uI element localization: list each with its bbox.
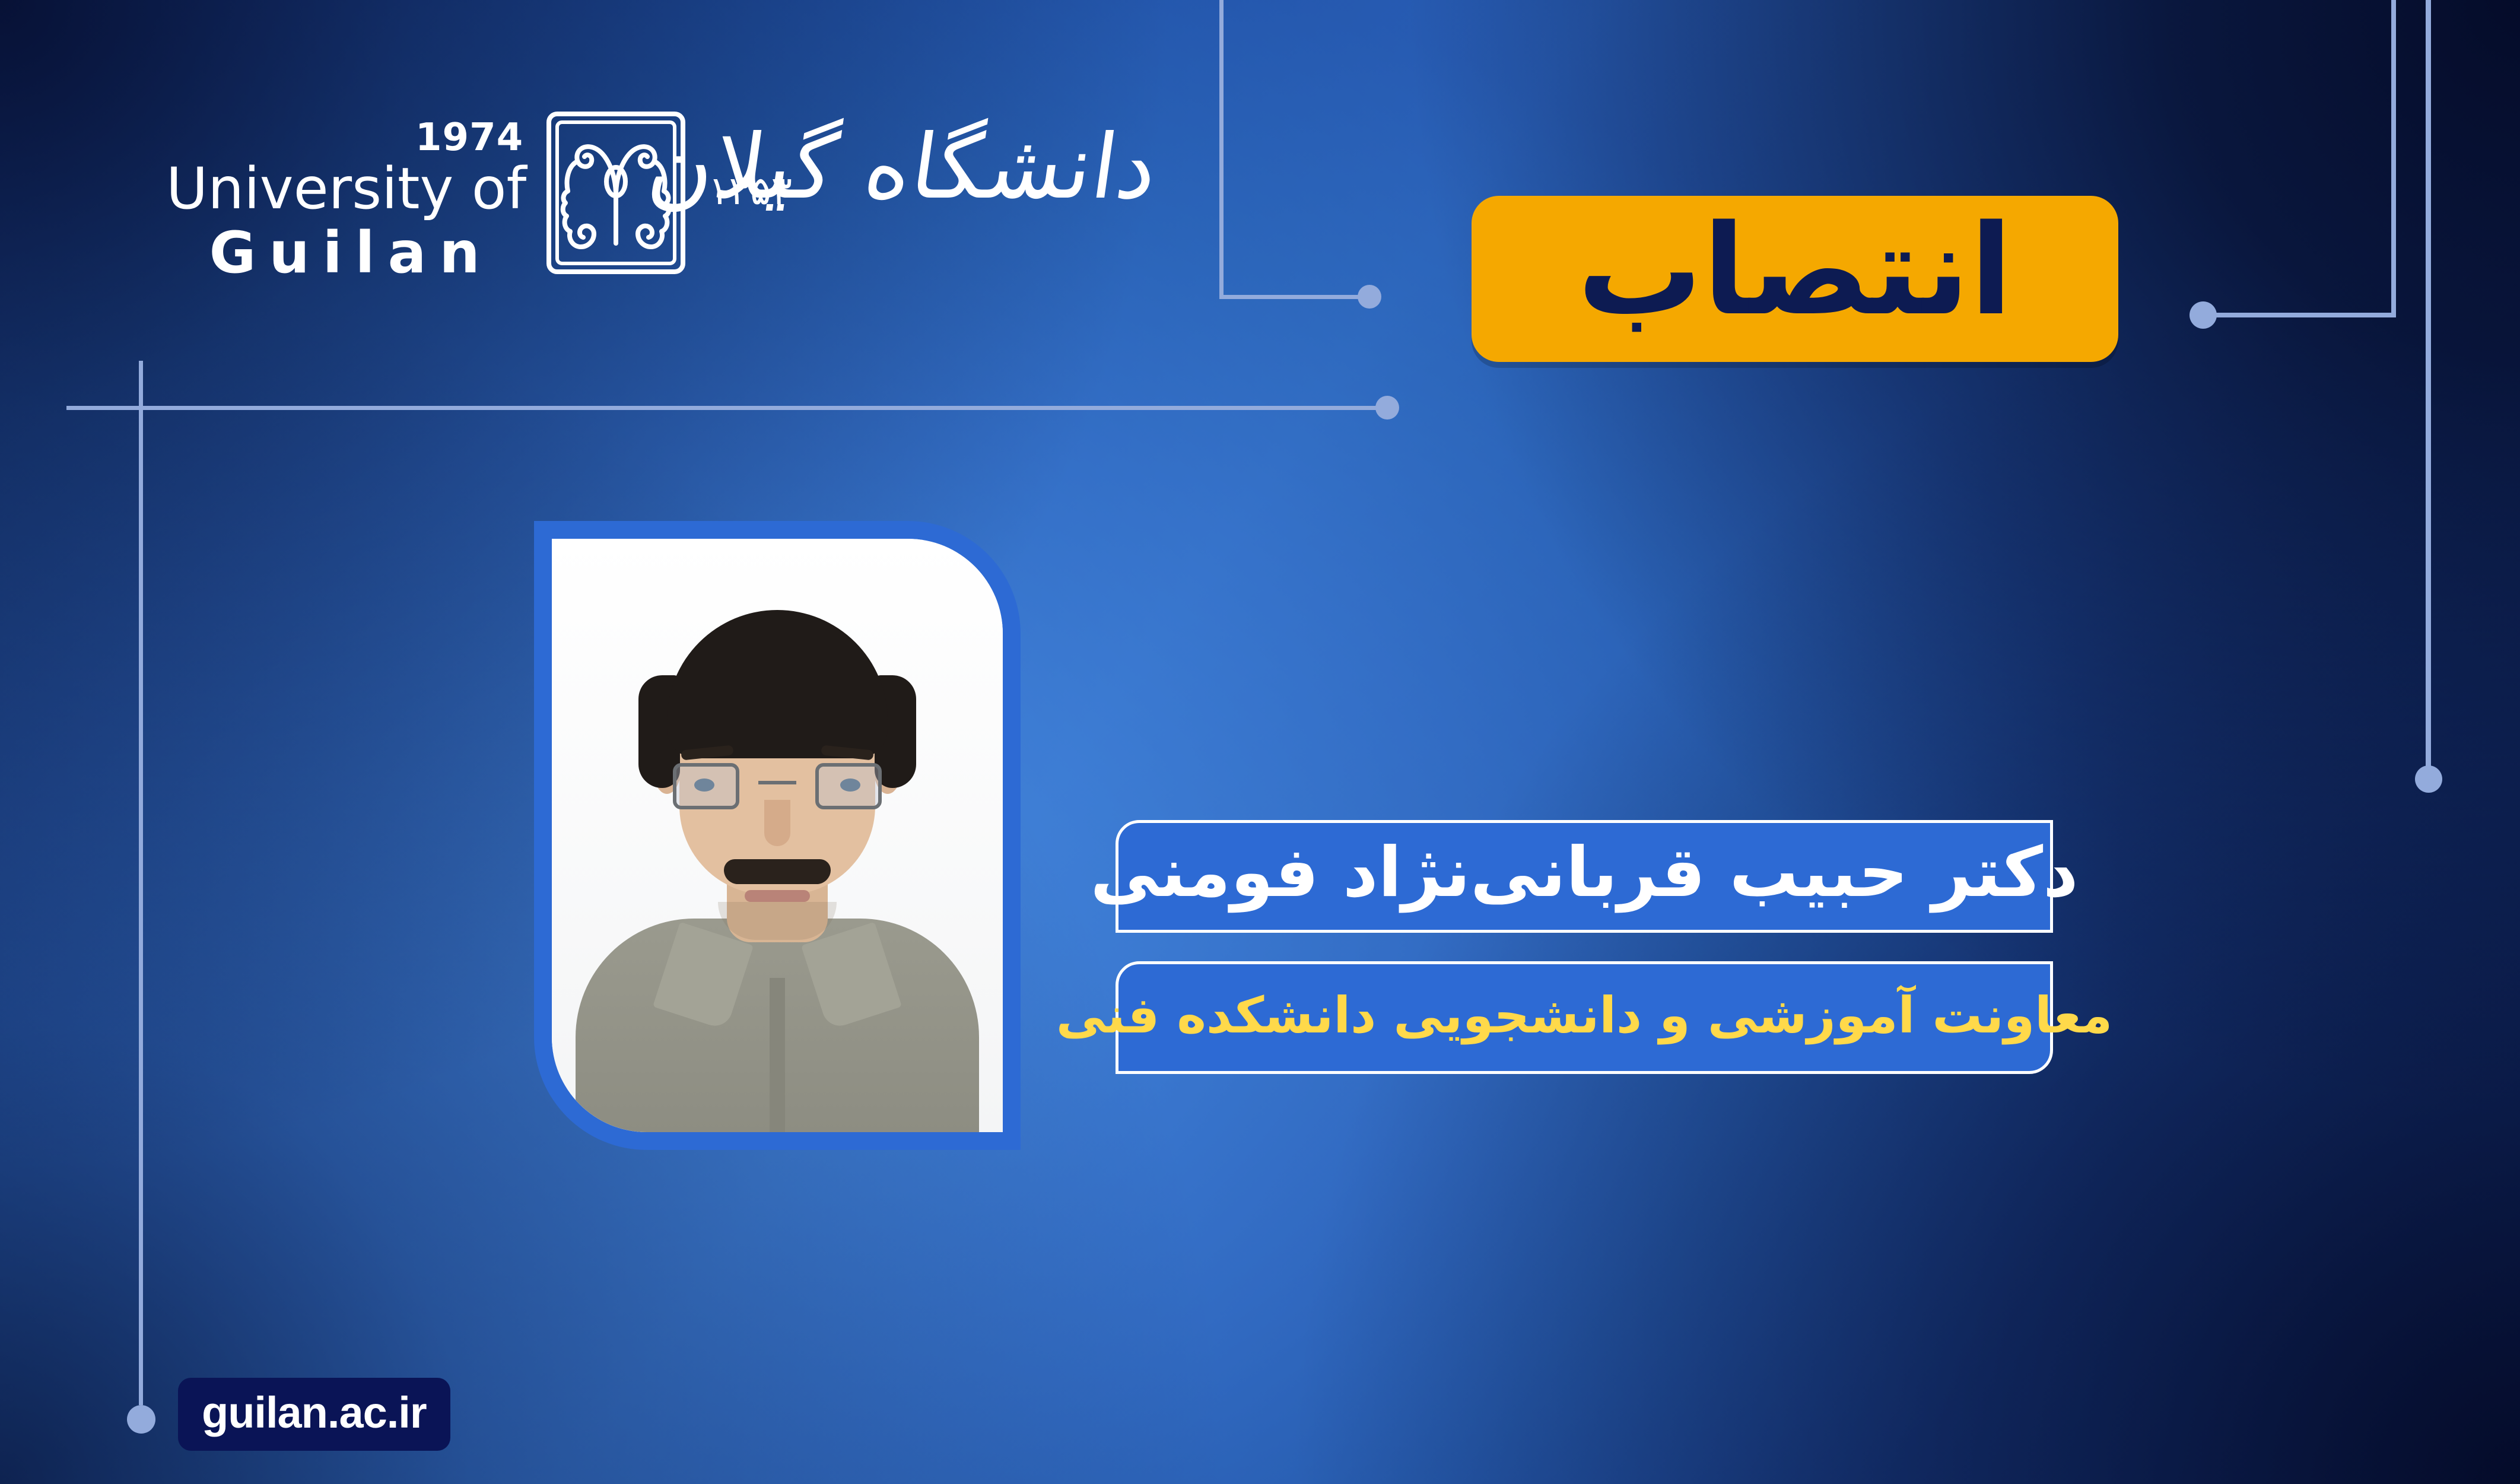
logo-guilan-label: Guilan [176, 224, 526, 281]
logo-university-of-label: University of [166, 160, 526, 217]
person-role: معاونت آموزشی و دانشجویی دانشکده فنی [1056, 990, 2112, 1040]
decor-vertical-line-right-inner [2391, 0, 2396, 316]
decor-vertical-line-left [139, 361, 143, 1405]
portrait-photo [552, 539, 1003, 1132]
decor-dot-right-inner [2189, 301, 2217, 329]
decor-dot-bottom-left [127, 1405, 155, 1434]
decor-horizontal-line-right-inner [2212, 313, 2396, 317]
university-logo-latin: 1974 University of Guilan [166, 107, 526, 281]
website-url: guilan.ac.ir [202, 1388, 427, 1437]
headline-badge: انتصاب [1472, 196, 2118, 362]
decor-dot-top-center [1358, 285, 1381, 309]
person-name-banner: دکتر حبیب قربانی‌نژاد فومنی [1116, 820, 2053, 933]
person-name: دکتر حبیب قربانی‌نژاد فومنی [1090, 838, 2078, 907]
logo-founding-year-persian: ۱۳۵۳ [708, 168, 792, 214]
person-role-banner: معاونت آموزشی و دانشجویی دانشکده فنی [1116, 961, 2053, 1074]
university-logo-persian: دانشگاه گیلان ۱۳۵۳ [706, 111, 1156, 277]
decor-vertical-line-right-outer [2426, 0, 2431, 771]
headline-label: انتصاب [1577, 208, 2012, 333]
portrait-frame [534, 521, 1021, 1150]
logo-founding-year-latin: 1974 [415, 119, 526, 157]
decor-dot-under-logo [1375, 396, 1399, 420]
decor-vertical-line-top-center [1219, 0, 1224, 298]
decor-horizontal-line-top-center [1219, 295, 1362, 299]
decor-horizontal-line-under-logo [66, 406, 1384, 410]
website-badge[interactable]: guilan.ac.ir [178, 1378, 450, 1451]
decor-dot-right-outer [2415, 765, 2442, 793]
university-logo: 1974 University of Guilan دانشگاه گیلان … [166, 107, 1156, 281]
appointment-poster: 1974 University of Guilan دانشگاه گیلان … [0, 0, 2520, 1484]
